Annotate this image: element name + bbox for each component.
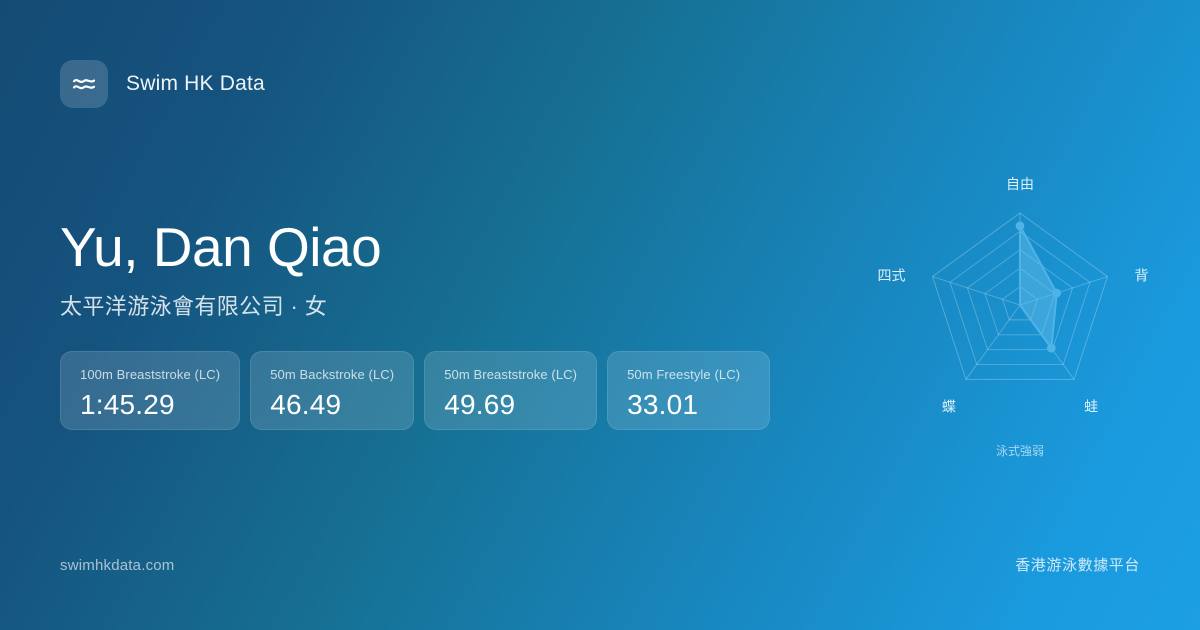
radar-axis-label-4: 四式 <box>878 268 906 284</box>
stat-card-value: 46.49 <box>270 389 394 421</box>
stat-card[interactable]: 50m Freestyle (LC) 33.01 <box>607 351 770 430</box>
app-title: Swim HK Data <box>126 72 265 96</box>
radar-data-point[interactable] <box>1047 344 1056 353</box>
stat-card-value: 1:45.29 <box>80 389 220 421</box>
radar-axis-label-2: 蛙 <box>1084 398 1098 414</box>
wave-icon <box>70 70 98 98</box>
radar-spoke <box>966 305 1020 379</box>
stat-card-label: 100m Breaststroke (LC) <box>80 367 220 382</box>
radar-spoke <box>933 277 1020 305</box>
radar-axis-label-0: 自由 <box>1006 176 1034 192</box>
radar-data-point[interactable] <box>1016 221 1025 230</box>
stat-card-value: 49.69 <box>444 389 577 421</box>
radar-axis-label-3: 蝶 <box>942 398 956 414</box>
stat-card-label: 50m Backstroke (LC) <box>270 367 394 382</box>
footer-site-url[interactable]: swimhkdata.com <box>60 557 175 574</box>
stat-card[interactable]: 50m Breaststroke (LC) 49.69 <box>424 351 597 430</box>
athlete-hero: Yu, Dan Qiao 太平洋游泳會有限公司 · 女 <box>60 218 840 321</box>
stat-card-label: 50m Freestyle (LC) <box>627 367 750 382</box>
athlete-meta: 太平洋游泳會有限公司 · 女 <box>60 289 840 321</box>
stat-card-label: 50m Breaststroke (LC) <box>444 367 577 382</box>
radar-caption: 泳式強弱 <box>996 444 1044 458</box>
brand-header[interactable]: Swim HK Data <box>60 60 265 108</box>
stat-card-list: 100m Breaststroke (LC) 1:45.29 50m Backs… <box>60 351 770 430</box>
stat-card[interactable]: 50m Backstroke (LC) 46.49 <box>250 351 414 430</box>
footer-tagline: 香港游泳數據平台 <box>1015 554 1140 575</box>
app-logo <box>60 60 108 108</box>
stat-card[interactable]: 100m Breaststroke (LC) 1:45.29 <box>60 351 240 430</box>
stat-card-value: 33.01 <box>627 389 750 421</box>
page-title: Yu, Dan Qiao <box>60 218 840 276</box>
stroke-strength-radar-chart: 自由背蛙蝶四式 泳式強弱 <box>868 168 1172 472</box>
radar-data-point[interactable] <box>1052 289 1061 298</box>
radar-axis-label-1: 背 <box>1134 268 1148 284</box>
